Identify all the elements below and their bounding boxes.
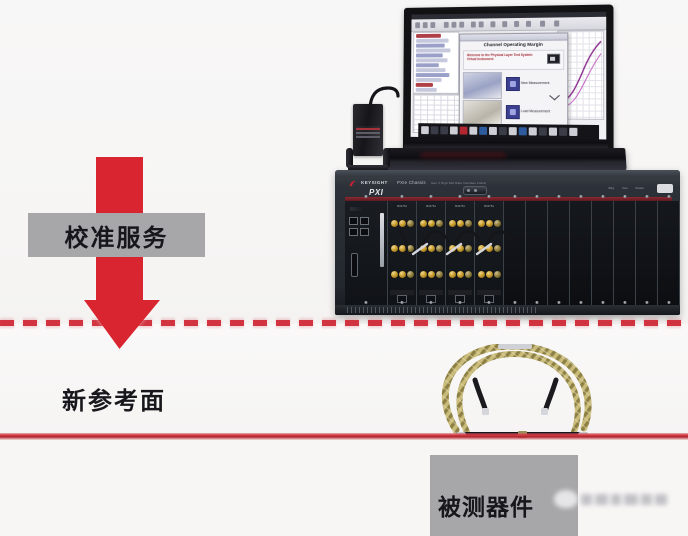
- sma-connector[interactable]: [486, 220, 493, 227]
- toolbar-icon[interactable]: [471, 22, 476, 28]
- taskbar-icon[interactable]: [499, 127, 507, 135]
- app-modal-dialog: Channel Operating Margin Welcome to the …: [459, 32, 569, 132]
- screw-icon: [513, 301, 516, 304]
- screw-icon: [430, 301, 433, 304]
- controller-status-leds: [350, 207, 364, 211]
- sma-connector-grid[interactable]: [477, 211, 501, 287]
- taskbar-icon[interactable]: [529, 127, 537, 135]
- diagram-canvas: Channel Operating Margin Welcome to the …: [0, 0, 688, 536]
- watermark-glyph: [611, 494, 621, 505]
- usb-port[interactable]: [349, 217, 358, 225]
- taskbar-icon[interactable]: [489, 127, 497, 135]
- rf-module[interactable]: M9375A: [388, 201, 417, 305]
- taskbar-icon[interactable]: [559, 128, 567, 136]
- sma-connector[interactable]: [494, 245, 501, 252]
- sma-connector[interactable]: [399, 245, 406, 252]
- sma-connector[interactable]: [457, 245, 464, 252]
- empty-slot[interactable]: [548, 201, 570, 305]
- sma-connector[interactable]: [391, 271, 398, 278]
- sma-connector[interactable]: [494, 271, 501, 278]
- new-measurement-button[interactable]: [506, 77, 520, 91]
- sma-connector[interactable]: [478, 271, 485, 278]
- sma-connector[interactable]: [436, 271, 443, 278]
- watermark-glyph: [655, 494, 667, 505]
- blurred-watermark: [554, 486, 686, 512]
- empty-slot[interactable]: [526, 201, 548, 305]
- toolbar-icon[interactable]: [554, 20, 559, 26]
- toolbar-icon[interactable]: [452, 22, 457, 28]
- screw-icon: [513, 195, 516, 198]
- tree-item[interactable]: [416, 48, 450, 52]
- tree-item[interactable]: [416, 39, 449, 43]
- chassis-model: PXIe Chassis: [397, 179, 426, 187]
- empty-slot[interactable]: [658, 201, 680, 305]
- laptop-lid: Channel Operating Margin Welcome to the …: [403, 4, 614, 154]
- chassis-indicators: Stby Fan Power: [608, 186, 644, 191]
- dsub-connector[interactable]: [351, 253, 358, 277]
- sma-connector[interactable]: [428, 245, 435, 252]
- empty-slot[interactable]: [592, 201, 614, 305]
- indicator-label: Power: [635, 186, 644, 191]
- laptop-computer: Channel Operating Margin Welcome to the …: [386, 6, 626, 178]
- sma-connector[interactable]: [457, 220, 464, 227]
- module-eject-handle[interactable]: [380, 213, 384, 267]
- toolbar-icon[interactable]: [526, 21, 531, 27]
- watermark-glyph: [595, 494, 608, 505]
- action-label: Load Measurement: [521, 109, 550, 113]
- sma-connector[interactable]: [436, 220, 443, 227]
- chassis-brand-name: KEYSIGHT: [361, 179, 388, 187]
- taskbar-icon[interactable]: [431, 126, 439, 134]
- screw-icon: [579, 195, 582, 198]
- sma-connector-grid[interactable]: [390, 211, 414, 287]
- sma-connector[interactable]: [457, 271, 464, 278]
- screw-icon: [459, 301, 462, 304]
- toolbar-icon[interactable]: [479, 21, 484, 27]
- keysight-logo-icon: [349, 180, 358, 187]
- watermark-glyph: [641, 494, 652, 505]
- sma-connector[interactable]: [478, 220, 485, 227]
- module-name: M9375A: [477, 204, 501, 209]
- toolbar-icon[interactable]: [540, 21, 545, 27]
- screw-icon: [535, 195, 538, 198]
- screw-icon: [645, 195, 648, 198]
- screw-icon: [645, 301, 648, 304]
- usb-port[interactable]: [360, 228, 369, 236]
- sma-connector[interactable]: [486, 245, 493, 252]
- taskbar-icon[interactable]: [569, 128, 577, 136]
- dut-boundary-line: [0, 433, 688, 440]
- sma-connector[interactable]: [494, 220, 501, 227]
- tree-item[interactable]: [416, 58, 448, 62]
- screw-icon: [557, 301, 560, 304]
- taskbar-icon[interactable]: [509, 127, 517, 135]
- watermark-glyph: [581, 494, 592, 505]
- empty-slot[interactable]: [570, 201, 592, 305]
- empty-slot[interactable]: [614, 201, 636, 305]
- dialog-title-text: Channel Operating Margin: [460, 41, 567, 50]
- taskbar-icon-active[interactable]: [460, 127, 468, 135]
- screw-icon: [459, 195, 462, 198]
- chassis-brand-row: KEYSIGHT PXIe Chassis Gen 3 High Slot Ra…: [335, 177, 680, 190]
- sma-connector[interactable]: [399, 271, 406, 278]
- sma-connector[interactable]: [407, 245, 414, 252]
- screw-icon: [667, 301, 670, 304]
- screw-icon: [557, 195, 560, 198]
- pxi-chassis: KEYSIGHT PXIe Chassis Gen 3 High Slot Ra…: [335, 170, 680, 315]
- tree-item[interactable]: [416, 88, 437, 92]
- probe-stand: [346, 148, 390, 172]
- start-button[interactable]: [421, 126, 429, 134]
- tree-item[interactable]: [416, 44, 445, 48]
- empty-slot[interactable]: [636, 201, 658, 305]
- taskbar[interactable]: [418, 123, 599, 139]
- screw-icon: [401, 195, 404, 198]
- chassis-front-panel-button[interactable]: [657, 184, 673, 193]
- module-name: M9375A: [419, 204, 443, 209]
- taskbar-icon[interactable]: [519, 127, 527, 135]
- screw-icon: [601, 301, 604, 304]
- sma-connector[interactable]: [436, 245, 443, 252]
- screw-icon: [601, 195, 604, 198]
- toolbar-icon[interactable]: [430, 22, 435, 28]
- sma-connector[interactable]: [465, 271, 472, 278]
- screw-icon: [488, 195, 491, 198]
- new-reference-plane-label: 新参考面: [62, 381, 166, 416]
- screw-icon: [430, 195, 433, 198]
- screw-icon: [623, 301, 626, 304]
- tree-item[interactable]: [416, 73, 450, 77]
- toolbar-icon[interactable]: [423, 22, 428, 28]
- chassis-bottom-edge: [335, 305, 680, 315]
- toolbar-icon[interactable]: [459, 22, 464, 28]
- taskbar-icon[interactable]: [440, 126, 448, 134]
- indicator-label: Stby: [608, 186, 614, 191]
- sma-connector[interactable]: [449, 245, 456, 252]
- screw-icon: [365, 301, 368, 304]
- sma-connector[interactable]: [449, 220, 456, 227]
- power-switch[interactable]: [463, 186, 487, 195]
- screw-icon: [488, 301, 491, 304]
- sma-connector-grid[interactable]: [419, 211, 443, 287]
- rf-module[interactable]: M9375A: [446, 201, 475, 305]
- sma-connector[interactable]: [391, 245, 398, 252]
- chassis-slot-area: M9375A M9375A: [345, 201, 672, 305]
- sma-connector[interactable]: [391, 220, 398, 227]
- indicator-label: Fan: [622, 186, 627, 191]
- controller-module[interactable]: [345, 201, 388, 305]
- screw-icon: [667, 195, 670, 198]
- screw-icon: [401, 301, 404, 304]
- rf-module[interactable]: M9375A: [475, 201, 504, 305]
- rf-module[interactable]: M9375A: [417, 201, 446, 305]
- chassis-top-edge: [335, 170, 680, 177]
- sma-connector[interactable]: [449, 271, 456, 278]
- sma-connector[interactable]: [399, 220, 406, 227]
- dialog-welcome-banner: Welcome to the Physical Layer Test Syste…: [463, 50, 564, 70]
- toolbar-icon[interactable]: [514, 21, 519, 27]
- taskbar-icon[interactable]: [539, 127, 547, 135]
- tree-item[interactable]: [416, 83, 433, 87]
- sma-connector[interactable]: [465, 220, 472, 227]
- tree-item[interactable]: [416, 63, 439, 67]
- tree-item[interactable]: [416, 78, 442, 82]
- tree-item[interactable]: [416, 34, 441, 38]
- toolbar-icon[interactable]: [444, 22, 449, 28]
- module-name: M9375A: [448, 204, 472, 209]
- sma-connector[interactable]: [420, 271, 427, 278]
- dialog-welcome-text: Welcome to the Physical Layer Test Syste…: [467, 53, 538, 61]
- sma-connector[interactable]: [420, 220, 427, 227]
- usb-port[interactable]: [349, 228, 358, 236]
- empty-slot[interactable]: [504, 201, 526, 305]
- screw-icon: [579, 301, 582, 304]
- app-navigation-tree[interactable]: [413, 32, 459, 94]
- taskbar-icon[interactable]: [450, 126, 458, 134]
- tree-item[interactable]: [416, 68, 446, 72]
- action-thumbnail: [463, 72, 502, 99]
- toolbar-icon[interactable]: [502, 21, 507, 27]
- taskbar-icon[interactable]: [469, 127, 477, 135]
- chassis-vent: [347, 307, 537, 313]
- watermark-glyph: [624, 494, 638, 505]
- controller-usb-ports[interactable]: [349, 217, 369, 239]
- dialog-banner-thumbnail: [547, 54, 560, 64]
- laptop-keyboard-base: [385, 148, 627, 172]
- sma-connector[interactable]: [486, 271, 493, 278]
- sma-connector[interactable]: [478, 245, 485, 252]
- sma-connector[interactable]: [428, 271, 435, 278]
- screw-icon: [365, 195, 368, 198]
- tree-item[interactable]: [416, 53, 443, 57]
- probe-module-on-stand: [342, 86, 402, 178]
- module-name: M9375A: [390, 204, 414, 209]
- sma-connector[interactable]: [465, 245, 472, 252]
- sma-connector-grid[interactable]: [448, 211, 472, 287]
- screw-icon: [535, 301, 538, 304]
- taskbar-icon[interactable]: [549, 128, 557, 136]
- load-measurement-button[interactable]: [506, 105, 520, 119]
- sma-connector[interactable]: [407, 271, 414, 278]
- usb-port[interactable]: [360, 217, 369, 225]
- laptop-screen: Channel Operating Margin Welcome to the …: [411, 12, 607, 140]
- dialog-action-row[interactable]: Load Measurement: [463, 100, 565, 127]
- taskbar-icon[interactable]: [479, 127, 487, 135]
- rf-test-cable: [434, 344, 614, 440]
- watermark-logo-icon: [554, 490, 578, 508]
- sma-connector[interactable]: [420, 245, 427, 252]
- calibration-service-label: 校准服务: [28, 213, 205, 257]
- sma-connector[interactable]: [428, 220, 435, 227]
- screw-icon: [623, 195, 626, 198]
- sma-connector[interactable]: [407, 220, 414, 227]
- action-label: New Measurement: [521, 81, 550, 85]
- toolbar-icon[interactable]: [415, 22, 420, 28]
- toolbar-icon[interactable]: [490, 21, 495, 27]
- probe-label: [356, 126, 380, 138]
